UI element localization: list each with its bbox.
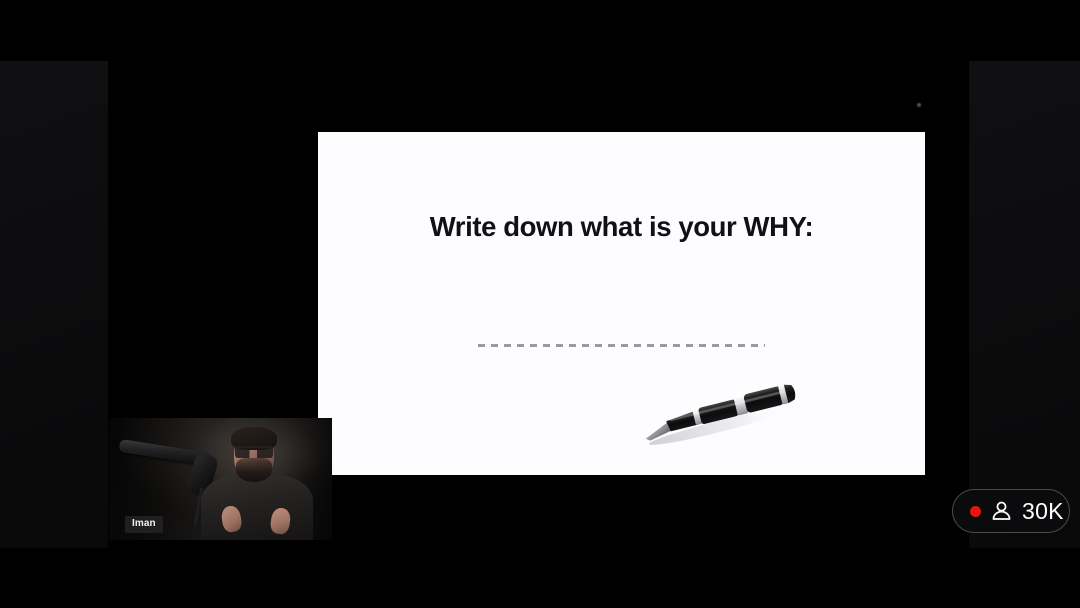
live-indicator-dot [970, 506, 981, 517]
slide-title: Write down what is your WHY: [318, 211, 925, 243]
glasses-icon [235, 446, 273, 458]
presentation-slide[interactable]: Write down what is your WHY: [318, 132, 925, 475]
background-light-speck [917, 103, 921, 107]
live-viewer-count-badge[interactable]: 30K [952, 489, 1070, 533]
letterbox-top [0, 0, 1080, 61]
presenter-torso [201, 474, 313, 540]
stream-stage: Write down what is your WHY: [0, 0, 1080, 608]
right-video-panel [969, 61, 1080, 548]
left-video-panel [0, 61, 108, 548]
person-icon [989, 499, 1014, 524]
viewer-count-label: 30K [1022, 500, 1064, 523]
slide-dashed-writing-line [478, 344, 765, 347]
presenter-webcam-thumbnail[interactable]: Iman [109, 418, 332, 540]
presenter-beard [236, 458, 272, 482]
letterbox-bottom [0, 548, 1080, 608]
presenter-name-tag: Iman [125, 516, 163, 533]
pen-illustration [638, 378, 803, 450]
